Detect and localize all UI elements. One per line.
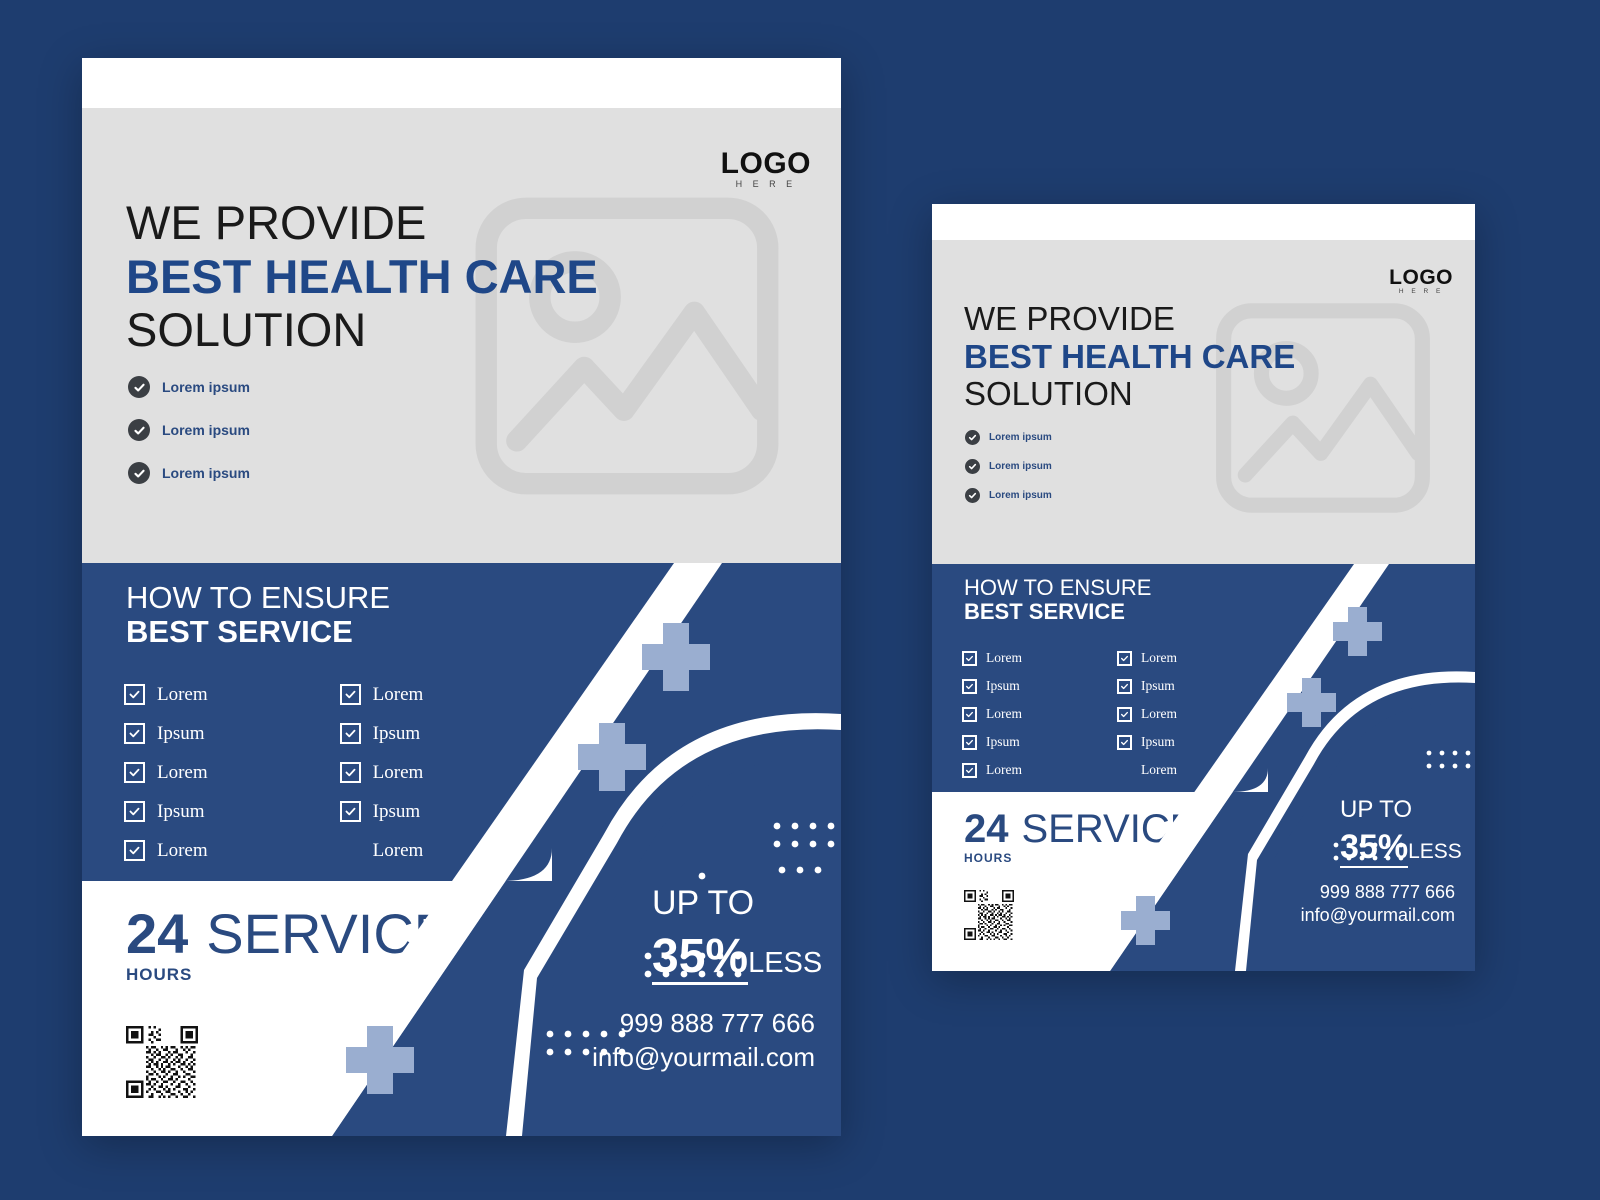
contact-phone[interactable]: 999 888 777 666 — [592, 1007, 815, 1040]
contact-phone[interactable]: 999 888 777 666 — [1301, 881, 1455, 904]
list-item-label: Lorem — [986, 762, 1022, 778]
list-item[interactable]: Ipsum — [1117, 672, 1177, 700]
list-item: Lorem ipsum — [965, 488, 1052, 503]
band-heading-line-2: BEST SERVICE — [964, 600, 1151, 624]
checkbox-icon[interactable] — [962, 651, 977, 666]
band-heading: HOW TO ENSURE BEST SERVICE — [126, 581, 390, 649]
list-item[interactable]: Lorem — [340, 675, 424, 714]
list-item-label: Lorem — [373, 684, 424, 706]
promo-percent: 35% — [652, 932, 748, 985]
checklist-column-left: Lorem Ipsum Lorem Ipsum Lorem — [124, 675, 208, 870]
list-item: Lorem — [340, 831, 424, 870]
service-band: HOW TO ENSURE BEST SERVICE Lorem Ipsum L… — [932, 564, 1475, 792]
list-item[interactable]: Lorem — [1117, 644, 1177, 672]
service-unit: HOURS — [126, 965, 451, 985]
service-hours-block: 24 SERVICE HOURS — [126, 906, 451, 985]
logo-main-text: LOGO — [721, 150, 811, 179]
service-word: SERVICE — [1022, 809, 1197, 849]
list-item[interactable]: Lorem — [962, 700, 1022, 728]
hero-panel: LOGO H E R E WE PROVIDE BEST HEALTH CARE… — [82, 108, 841, 563]
checkbox-icon[interactable] — [1117, 707, 1132, 722]
checkbox-icon[interactable] — [1117, 651, 1132, 666]
checkbox-icon[interactable] — [124, 762, 145, 783]
contact-email[interactable]: info@yourmail.com — [1301, 904, 1455, 927]
list-item-label: Ipsum — [986, 734, 1020, 750]
list-item[interactable]: Lorem — [340, 753, 424, 792]
list-item[interactable]: Ipsum — [962, 728, 1022, 756]
checkbox-icon[interactable] — [340, 762, 361, 783]
promo-up-to: UP TO — [1340, 798, 1462, 822]
list-item-label: Lorem — [1141, 762, 1177, 778]
service-number: 24 — [964, 809, 1009, 849]
list-item-label: Lorem ipsum — [162, 379, 250, 395]
list-item-label: Ipsum — [373, 723, 421, 745]
band-heading-line-1: HOW TO ENSURE — [126, 581, 390, 615]
list-item: Lorem ipsum — [965, 459, 1052, 474]
list-item-label: Lorem — [157, 684, 208, 706]
promo-block: UP TO 35% LESS — [1340, 798, 1462, 868]
flyer-large[interactable]: LOGO H E R E WE PROVIDE BEST HEALTH CARE… — [82, 58, 841, 1136]
checkbox-icon[interactable] — [124, 684, 145, 705]
list-item-label: Lorem — [986, 706, 1022, 722]
list-item[interactable]: Lorem — [1117, 700, 1177, 728]
list-item-label: Lorem ipsum — [162, 422, 250, 438]
list-item-label: Ipsum — [986, 678, 1020, 694]
checklist-column-left: Lorem Ipsum Lorem Ipsum Lorem — [962, 644, 1022, 784]
list-item: Lorem ipsum — [965, 430, 1052, 445]
logo-block: LOGO H E R E — [721, 150, 811, 189]
hero-bullet-list: Lorem ipsum Lorem ipsum Lorem ipsum — [965, 430, 1052, 517]
check-circle-icon — [128, 462, 150, 484]
service-unit: HOURS — [964, 851, 1196, 865]
top-white-strip — [82, 58, 841, 108]
checkbox-icon[interactable] — [340, 801, 361, 822]
contact-block: 999 888 777 666 info@yourmail.com — [1301, 881, 1455, 927]
checkbox-icon[interactable] — [1117, 679, 1132, 694]
checkbox-icon[interactable] — [340, 723, 361, 744]
headline-line-2: BEST HEALTH CARE — [126, 250, 598, 304]
service-word: SERVICE — [206, 906, 451, 962]
checkbox-icon[interactable] — [124, 723, 145, 744]
list-item[interactable]: Ipsum — [340, 714, 424, 753]
checklist: Lorem Ipsum Lorem Ipsum Lorem — [962, 644, 1177, 784]
check-circle-icon — [965, 430, 980, 445]
checkbox-icon[interactable] — [1117, 735, 1132, 750]
top-white-strip — [932, 204, 1475, 240]
list-item[interactable]: Lorem — [124, 675, 208, 714]
list-item: Lorem ipsum — [128, 419, 250, 441]
list-item: Lorem ipsum — [128, 462, 250, 484]
list-item[interactable]: Ipsum — [1117, 728, 1177, 756]
headline-line-1: WE PROVIDE — [126, 196, 598, 250]
service-hours-block: 24 SERVICE HOURS — [964, 809, 1196, 865]
check-circle-icon — [965, 459, 980, 474]
promo-percent: 35% — [1340, 830, 1408, 868]
list-item-label: Lorem — [373, 762, 424, 784]
checkbox-icon[interactable] — [124, 840, 145, 861]
promo-block: UP TO 35% LESS — [652, 886, 822, 985]
checkbox-icon[interactable] — [962, 735, 977, 750]
check-circle-icon — [128, 419, 150, 441]
list-item-label: Ipsum — [1141, 678, 1175, 694]
list-item-label: Lorem ipsum — [989, 461, 1052, 472]
qr-code-icon[interactable] — [126, 1026, 198, 1098]
page-title: WE PROVIDE BEST HEALTH CARE SOLUTION — [964, 300, 1295, 413]
list-item[interactable]: Lorem — [124, 753, 208, 792]
checkbox-icon[interactable] — [962, 763, 977, 778]
checkbox-icon[interactable] — [124, 801, 145, 822]
list-item-label: Lorem — [986, 650, 1022, 666]
list-item-label: Lorem — [157, 762, 208, 784]
band-heading-line-2: BEST SERVICE — [126, 615, 390, 649]
check-circle-icon — [128, 376, 150, 398]
service-band: HOW TO ENSURE BEST SERVICE Lorem Ipsum L… — [82, 563, 841, 881]
headline-line-3: SOLUTION — [964, 375, 1295, 413]
list-item-label: Ipsum — [157, 723, 205, 745]
list-item[interactable]: Lorem — [124, 831, 208, 870]
list-item-label: Ipsum — [157, 801, 205, 823]
list-item-label: Ipsum — [373, 801, 421, 823]
list-item[interactable]: Lorem — [962, 756, 1022, 784]
check-circle-icon — [965, 488, 980, 503]
list-item: Lorem — [1117, 756, 1177, 784]
promo-less: LESS — [748, 947, 822, 980]
service-number: 24 — [126, 906, 188, 962]
headline-line-1: WE PROVIDE — [964, 300, 1295, 338]
contact-block: 999 888 777 666 info@yourmail.com — [592, 1007, 815, 1074]
logo-block: LOGO H E R E — [1389, 268, 1453, 295]
list-item[interactable]: Ipsum — [962, 672, 1022, 700]
band-heading-line-1: HOW TO ENSURE — [964, 576, 1151, 600]
headline-line-2: BEST HEALTH CARE — [964, 338, 1295, 376]
list-item-label: Lorem ipsum — [162, 465, 250, 481]
list-item[interactable]: Ipsum — [340, 792, 424, 831]
checkbox-icon[interactable] — [962, 679, 977, 694]
qr-code-icon[interactable] — [964, 890, 1014, 940]
hero-panel: LOGO H E R E WE PROVIDE BEST HEALTH CARE… — [932, 240, 1475, 564]
band-heading: HOW TO ENSURE BEST SERVICE — [964, 576, 1151, 624]
list-item-label: Lorem — [1141, 650, 1177, 666]
list-item-label: Lorem — [157, 840, 208, 862]
list-item-label: Lorem — [1141, 706, 1177, 722]
checkbox-icon[interactable] — [962, 707, 977, 722]
checklist-column-right: Lorem Ipsum Lorem Ipsum Lorem — [1117, 644, 1177, 784]
list-item-label: Lorem — [373, 840, 424, 862]
list-item[interactable]: Ipsum — [124, 714, 208, 753]
list-item-label: Lorem ipsum — [989, 432, 1052, 443]
list-item[interactable]: Ipsum — [124, 792, 208, 831]
page-title: WE PROVIDE BEST HEALTH CARE SOLUTION — [126, 196, 598, 357]
logo-sub-text: H E R E — [721, 179, 811, 189]
list-item-label: Lorem ipsum — [989, 490, 1052, 501]
checkbox-icon[interactable] — [340, 684, 361, 705]
list-item[interactable]: Lorem — [962, 644, 1022, 672]
promo-up-to: UP TO — [652, 886, 822, 920]
checklist: Lorem Ipsum Lorem Ipsum Lorem — [124, 675, 423, 870]
logo-main-text: LOGO — [1389, 268, 1453, 288]
headline-line-3: SOLUTION — [126, 303, 598, 357]
flyer-small[interactable]: LOGO H E R E WE PROVIDE BEST HEALTH CARE… — [932, 204, 1475, 971]
promo-less: LESS — [1408, 840, 1462, 864]
list-item-label: Ipsum — [1141, 734, 1175, 750]
hero-bullet-list: Lorem ipsum Lorem ipsum Lorem ipsum — [128, 376, 250, 505]
checklist-column-right: Lorem Ipsum Lorem Ipsum Lorem — [340, 675, 424, 870]
list-item: Lorem ipsum — [128, 376, 250, 398]
contact-email[interactable]: info@yourmail.com — [592, 1041, 815, 1074]
